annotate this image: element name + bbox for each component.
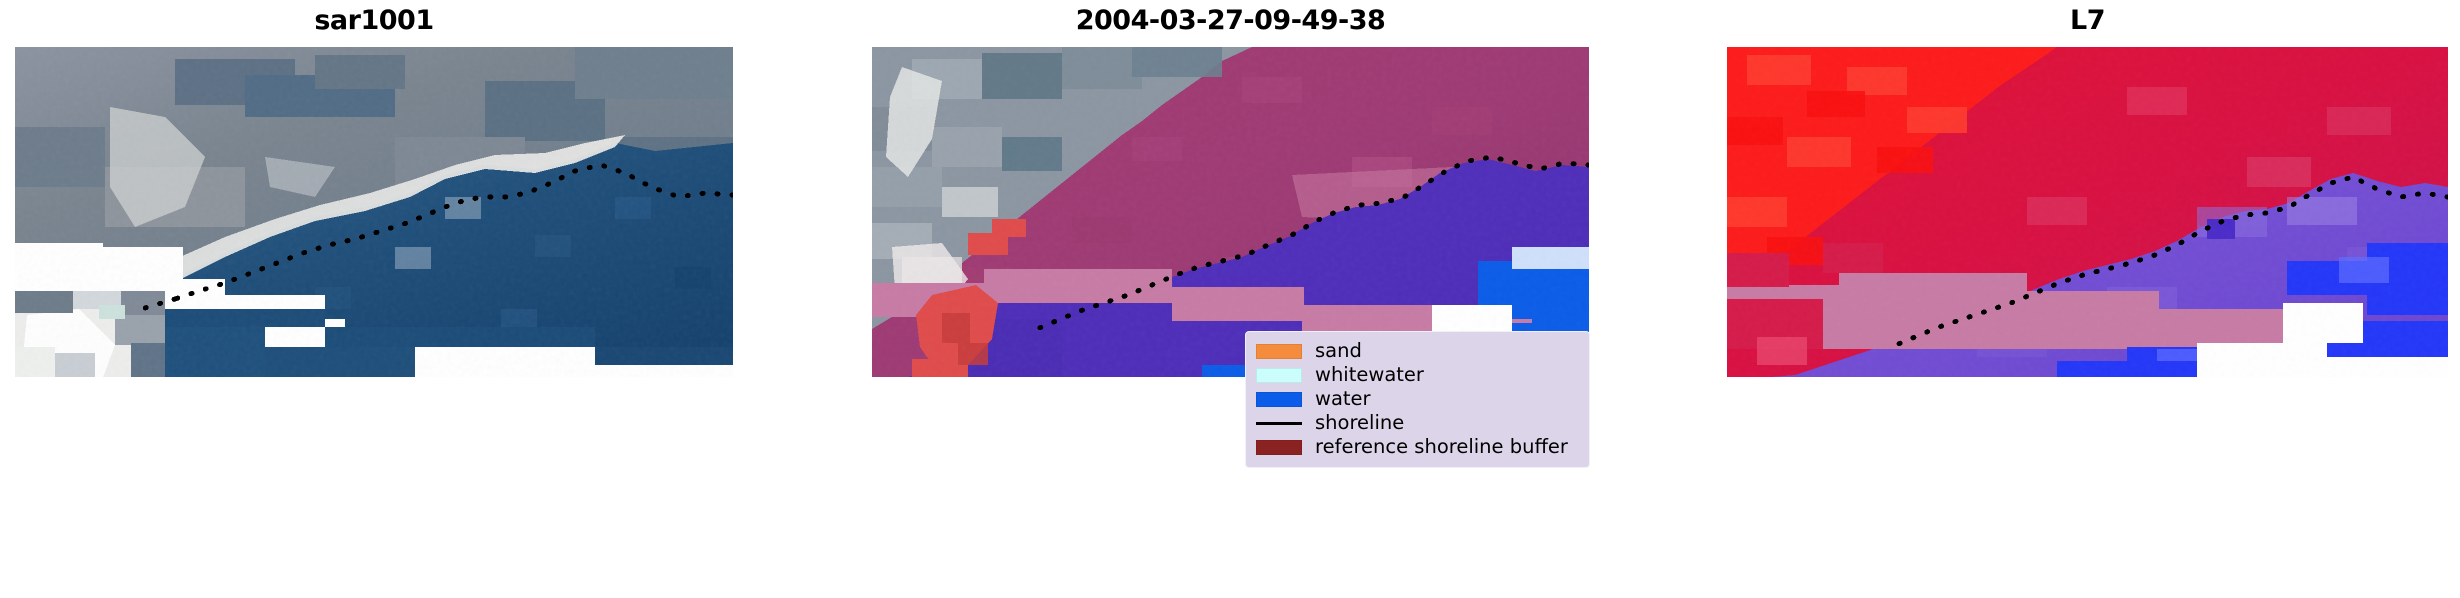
raster-sar1001 — [15, 47, 733, 377]
legend-label-water: water — [1315, 388, 1371, 410]
legend-label-shoreline: shoreline — [1315, 412, 1404, 434]
legend-item-whitewater: whitewater — [1256, 363, 1579, 387]
shoreline-line-swatch — [1256, 422, 1302, 425]
panel-title-1: sar1001 — [15, 4, 733, 38]
legend-item-reference-shoreline-buffer: reference shoreline buffer — [1256, 435, 1579, 459]
reference-shoreline-buffer-swatch — [1256, 440, 1302, 455]
figure-canvas: sar1001 — [0, 0, 2460, 598]
legend-label-whitewater: whitewater — [1315, 364, 1424, 386]
sand-swatch — [1256, 344, 1302, 359]
legend-label-reference-shoreline-buffer: reference shoreline buffer — [1315, 436, 1568, 458]
raster-classification — [872, 47, 1589, 377]
water-swatch — [1256, 392, 1302, 407]
panel-title-3: L7 — [1727, 4, 2448, 38]
panel-sar1001: sar1001 — [15, 0, 733, 598]
legend-label-sand: sand — [1315, 340, 1362, 362]
panel-classification: 2004-03-27-09-49-38 — [872, 0, 1589, 598]
legend-item-water: water — [1256, 387, 1579, 411]
raster-l7 — [1727, 47, 2448, 377]
axes-classification — [872, 47, 1589, 377]
axes-l7 — [1727, 47, 2448, 377]
axes-sar1001 — [15, 47, 733, 377]
panel-title-2: 2004-03-27-09-49-38 — [872, 4, 1589, 38]
legend: sand whitewater water shoreline referenc… — [1245, 331, 1590, 468]
legend-item-shoreline: shoreline — [1256, 411, 1579, 435]
whitewater-swatch — [1256, 368, 1302, 383]
panel-l7: L7 — [1727, 0, 2448, 598]
legend-item-sand: sand — [1256, 339, 1579, 363]
